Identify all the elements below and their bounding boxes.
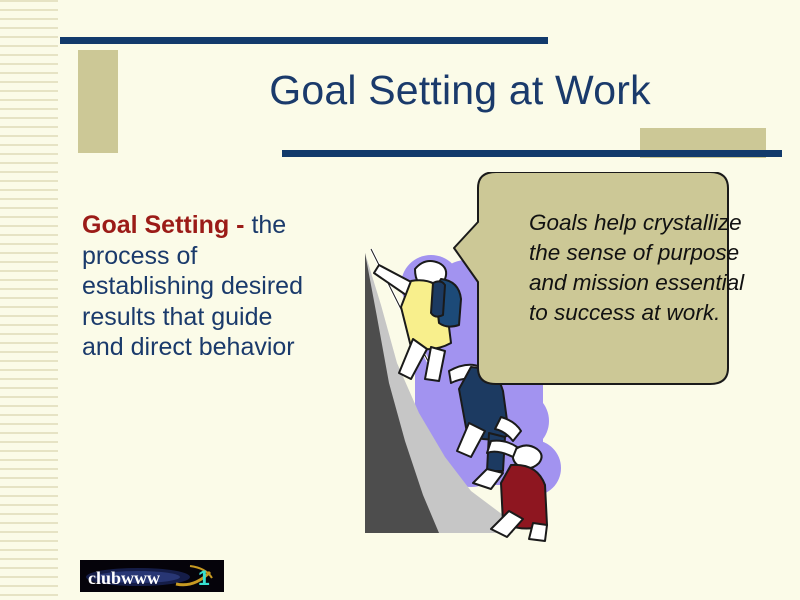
logo-wordmark: clubwww: [88, 568, 160, 588]
page-title: Goal Setting at Work: [150, 68, 770, 113]
header-khaki-vertical-block: [78, 50, 118, 153]
header-bottom-rule: [282, 150, 782, 157]
body-text-block: Goal Setting - the process of establishi…: [82, 210, 307, 363]
header-top-rule: [60, 37, 548, 44]
slide-canvas: Goal Setting at Work Goal Setting - the …: [0, 0, 800, 600]
clubwww1-logo[interactable]: clubwww 1: [80, 560, 224, 592]
left-stripe-decoration: [0, 0, 58, 600]
callout-text: Goals help crystallize the sense of purp…: [529, 208, 754, 328]
callout-bubble: Goals help crystallize the sense of purp…: [452, 172, 742, 412]
body-lead-term: Goal Setting -: [82, 211, 245, 239]
logo-numeral: 1: [198, 567, 210, 590]
